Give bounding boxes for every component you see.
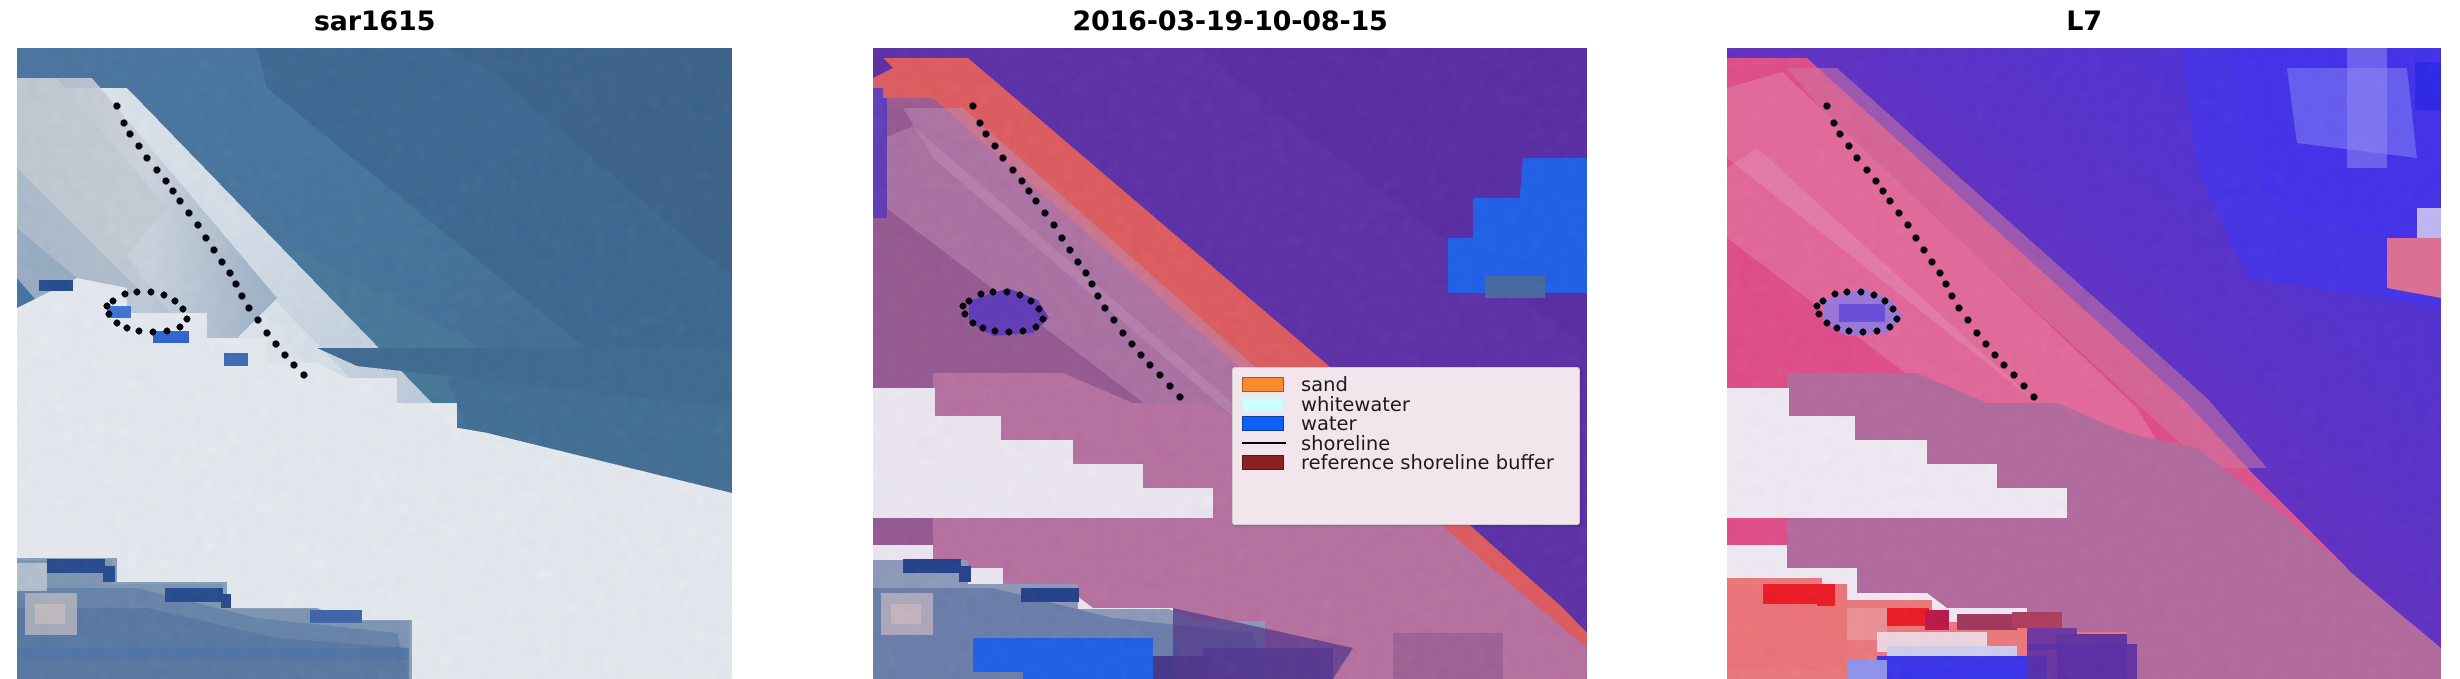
classified-overlay-image: [873, 48, 1587, 679]
whitewater-swatch-icon: [1242, 397, 1284, 412]
shoreline-line-icon: [1242, 442, 1286, 444]
legend-swatch-cell-reference-shoreline-buffer: [1242, 453, 1292, 472]
legend-item-whitewater: whitewater: [1242, 395, 1568, 415]
legend-label-reference-shoreline-buffer: reference shoreline buffer: [1292, 453, 1554, 473]
legend-label-water: water: [1292, 414, 1357, 434]
legend-swatch-cell-sand: [1242, 375, 1292, 394]
legend-item-sand: sand: [1242, 375, 1568, 395]
figure-canvas: sar1615: [0, 0, 2460, 679]
axes-l7: [1727, 48, 2441, 679]
reference-shoreline-buffer-swatch-icon: [1242, 455, 1284, 470]
legend-item-water: water: [1242, 414, 1568, 434]
panel-title-l7: L7: [1727, 6, 2441, 37]
water-swatch-icon: [1242, 416, 1284, 431]
l7-index-image: [1727, 48, 2441, 679]
sand-swatch-icon: [1242, 377, 1284, 392]
axes-sar1615: [17, 48, 732, 679]
sar1615-image: [17, 48, 732, 679]
axes-classified: [873, 48, 1587, 679]
legend-swatch-cell-shoreline: [1242, 434, 1292, 453]
legend-swatch-cell-whitewater: [1242, 395, 1292, 414]
legend-label-sand: sand: [1292, 375, 1348, 395]
panel-title-date: 2016-03-19-10-08-15: [873, 6, 1587, 37]
legend-item-reference-shoreline-buffer: reference shoreline buffer: [1242, 453, 1568, 473]
panel-title-sar1615: sar1615: [17, 6, 732, 37]
legend-box: sand whitewater water shoreline referenc: [1232, 367, 1580, 525]
legend-swatch-cell-water: [1242, 414, 1292, 433]
